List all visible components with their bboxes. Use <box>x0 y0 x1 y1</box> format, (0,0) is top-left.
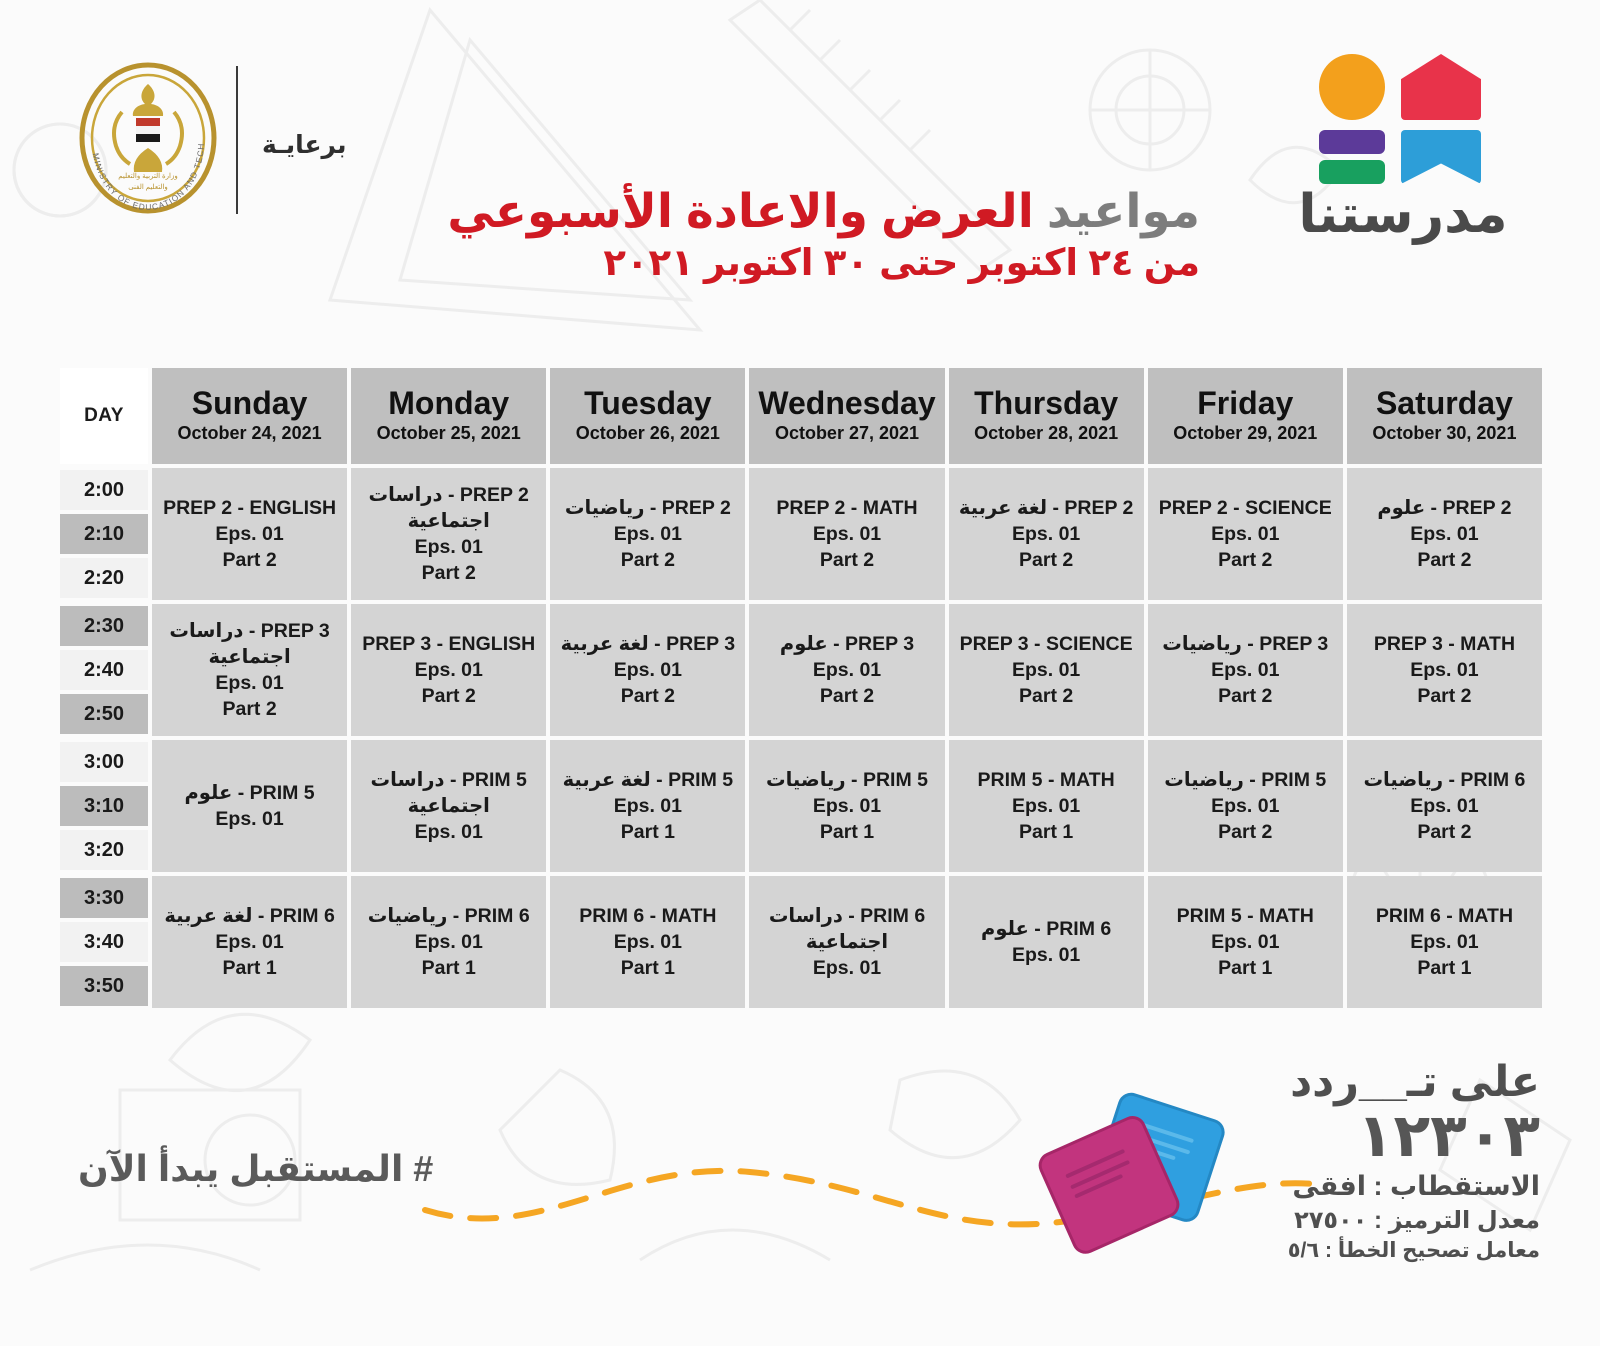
frequency-label: على تـ__ردد <box>1120 1060 1540 1105</box>
time-label: 2:30 <box>60 606 148 646</box>
day-column-header: DAY <box>60 368 148 464</box>
brand-name: مدرستنا <box>1258 184 1548 245</box>
program-title: PREP 3 - SCIENCE <box>949 631 1144 657</box>
episode-label: Eps. 01 <box>749 955 944 981</box>
part-label: Part 1 <box>550 955 745 981</box>
time-column-cell: 2:302:402:50 <box>60 604 148 736</box>
program-title: PRIM 6 - رياضيات <box>1347 767 1542 793</box>
episode-label: Eps. 01 <box>1347 929 1542 955</box>
program-title: PRIM 6 - MATH <box>1347 903 1542 929</box>
episode-label: Eps. 01 <box>949 942 1144 968</box>
sponsor-label: برعايـة <box>262 130 347 160</box>
day-name: Wednesday <box>749 387 944 421</box>
part-label: Part 1 <box>949 819 1144 845</box>
purple-bar-icon <box>1319 130 1385 154</box>
day-name: Thursday <box>949 387 1144 421</box>
program-cell[interactable]: PREP 2 - SCIENCEEps. 01Part 2 <box>1148 468 1343 600</box>
day-date: October 26, 2021 <box>550 423 745 445</box>
part-label: Part 2 <box>351 683 546 709</box>
day-name: Monday <box>351 387 546 421</box>
day-date: October 29, 2021 <box>1148 423 1343 445</box>
day-date: October 30, 2021 <box>1347 423 1542 445</box>
program-title: اجتماعية <box>351 793 546 819</box>
program-title: اجتماعية <box>152 644 347 670</box>
program-title: PREP 2 - دراسات <box>351 482 546 508</box>
episode-label: Eps. 01 <box>749 657 944 683</box>
program-cell[interactable]: PRIM 5 - علومEps. 01 <box>152 740 347 872</box>
program-title: PREP 2 - علوم <box>1347 495 1542 521</box>
day-header-friday: FridayOctober 29, 2021 <box>1148 368 1343 464</box>
episode-label: Eps. 01 <box>351 657 546 683</box>
time-label: 3:40 <box>60 922 148 962</box>
program-cell[interactable]: PRIM 6 - رياضياتEps. 01Part 2 <box>1347 740 1542 872</box>
satellite-frequency-info: على تـ__ردد ١٢٣٠٣ الاستقطاب : افقى معدل … <box>1120 1060 1540 1266</box>
program-cell[interactable]: PRIM 6 - علومEps. 01 <box>949 876 1144 1008</box>
program-title: PRIM 5 - رياضيات <box>1148 767 1343 793</box>
day-name: Sunday <box>152 387 347 421</box>
episode-label: Eps. 01 <box>949 657 1144 683</box>
schedule-row: 2:002:102:20PREP 2 - ENGLISHEps. 01Part … <box>60 468 1542 600</box>
program-cell[interactable]: PRIM 5 - دراساتاجتماعيةEps. 01 <box>351 740 546 872</box>
day-header-sunday: SundayOctober 24, 2021 <box>152 368 347 464</box>
schedule-row: 3:303:403:50PRIM 6 - لغة عربيةEps. 01Par… <box>60 876 1542 1008</box>
green-bar-icon <box>1319 160 1385 184</box>
red-house-icon <box>1401 54 1481 120</box>
day-date: October 25, 2021 <box>351 423 546 445</box>
episode-label: Eps. 01 <box>749 793 944 819</box>
orange-circle-icon <box>1319 54 1385 120</box>
program-title: PRIM 6 - علوم <box>949 916 1144 942</box>
day-date: October 27, 2021 <box>749 423 944 445</box>
program-title: PRIM 5 - دراسات <box>351 767 546 793</box>
part-label: Part 1 <box>152 955 347 981</box>
episode-label: Eps. 01 <box>550 793 745 819</box>
time-label: 3:10 <box>60 786 148 826</box>
part-label: Part 1 <box>1347 955 1542 981</box>
program-cell[interactable]: PREP 2 - دراساتاجتماعيةEps. 01Part 2 <box>351 468 546 600</box>
time-column-cell: 3:303:403:50 <box>60 876 148 1008</box>
episode-label: Eps. 01 <box>1148 657 1343 683</box>
part-label: Part 2 <box>351 560 546 586</box>
program-title: PREP 2 - لغة عربية <box>949 495 1144 521</box>
episode-label: Eps. 01 <box>949 521 1144 547</box>
time-label: 2:10 <box>60 514 148 554</box>
program-title: PREP 3 - رياضيات <box>1148 631 1343 657</box>
day-header-thursday: ThursdayOctober 28, 2021 <box>949 368 1144 464</box>
part-label: Part 2 <box>550 547 745 573</box>
episode-label: Eps. 01 <box>351 929 546 955</box>
svg-text:وزارة التربية والتعليم: وزارة التربية والتعليم <box>118 172 178 180</box>
program-cell[interactable]: PREP 3 - علومEps. 01Part 2 <box>749 604 944 736</box>
episode-label: Eps. 01 <box>152 521 347 547</box>
title-red-part: العرض والاعادة الأسبوعي <box>447 184 1033 237</box>
part-label: Part 1 <box>1148 955 1343 981</box>
time-label: 2:20 <box>60 558 148 598</box>
day-header-monday: MondayOctober 25, 2021 <box>351 368 546 464</box>
part-label: Part 2 <box>749 547 944 573</box>
program-cell[interactable]: PRIM 6 - دراساتاجتماعيةEps. 01 <box>749 876 944 1008</box>
time-label: 3:00 <box>60 742 148 782</box>
schedule-row: 3:003:103:20PRIM 5 - علومEps. 01PRIM 5 -… <box>60 740 1542 872</box>
hashtag-slogan: # المستقبل يبدأ الآن <box>78 1148 433 1190</box>
part-label: Part 2 <box>949 683 1144 709</box>
program-title: PREP 3 - لغة عربية <box>550 631 745 657</box>
schedule-row: 2:302:402:50PREP 3 - دراساتاجتماعيةEps. … <box>60 604 1542 736</box>
episode-label: Eps. 01 <box>152 670 347 696</box>
program-cell[interactable]: PRIM 6 - لغة عربيةEps. 01Part 1 <box>152 876 347 1008</box>
madrasatna-brand: مدرستنا <box>1258 52 1548 245</box>
program-title: PREP 2 - ENGLISH <box>152 495 347 521</box>
episode-label: Eps. 01 <box>1148 929 1343 955</box>
day-name: Friday <box>1148 387 1343 421</box>
episode-label: Eps. 01 <box>1148 793 1343 819</box>
episode-label: Eps. 01 <box>1148 521 1343 547</box>
time-label: 3:50 <box>60 966 148 1006</box>
episode-label: Eps. 01 <box>351 534 546 560</box>
table-body: 2:002:102:20PREP 2 - ENGLISHEps. 01Part … <box>60 468 1542 1008</box>
part-label: Part 2 <box>1148 683 1343 709</box>
part-label: Part 2 <box>1347 819 1542 845</box>
episode-label: Eps. 01 <box>152 806 347 832</box>
program-cell[interactable]: PREP 3 - دراساتاجتماعيةEps. 01Part 2 <box>152 604 347 736</box>
time-label: 2:00 <box>60 470 148 510</box>
episode-label: Eps. 01 <box>1347 521 1542 547</box>
program-cell[interactable]: PREP 3 - رياضياتEps. 01Part 2 <box>1148 604 1343 736</box>
program-cell[interactable]: PRIM 6 - MATHEps. 01Part 1 <box>1347 876 1542 1008</box>
program-cell[interactable]: PREP 2 - علومEps. 01Part 2 <box>1347 468 1542 600</box>
brand-logo-marks <box>1313 52 1493 180</box>
program-cell[interactable]: PREP 3 - SCIENCEEps. 01Part 2 <box>949 604 1144 736</box>
part-label: Part 2 <box>949 547 1144 573</box>
time-column-cell: 3:003:103:20 <box>60 740 148 872</box>
episode-label: Eps. 01 <box>1347 793 1542 819</box>
time-label: 2:40 <box>60 650 148 690</box>
program-title: PRIM 5 - رياضيات <box>749 767 944 793</box>
part-label: Part 2 <box>749 683 944 709</box>
day-header-saturday: SaturdayOctober 30, 2021 <box>1347 368 1542 464</box>
day-name: Saturday <box>1347 387 1542 421</box>
program-cell[interactable]: PREP 2 - لغة عربيةEps. 01Part 2 <box>949 468 1144 600</box>
part-label: Part 1 <box>351 955 546 981</box>
blue-bookmark-icon <box>1401 130 1481 184</box>
program-cell[interactable]: PREP 2 - رياضياتEps. 01Part 2 <box>550 468 745 600</box>
time-label: 2:50 <box>60 694 148 734</box>
polarization-info: الاستقطاب : افقى <box>1120 1168 1540 1204</box>
program-title: PREP 2 - SCIENCE <box>1148 495 1343 521</box>
table-header-row: DAY SundayOctober 24, 2021MondayOctober … <box>60 368 1542 464</box>
day-name: Tuesday <box>550 387 745 421</box>
symbol-rate-info: معدل الترميز : ٢٧٥٠٠ <box>1120 1205 1540 1237</box>
fec-info: معامل تصحيح الخطأ : ٥/٦ <box>1120 1237 1540 1265</box>
part-label: Part 2 <box>152 547 347 573</box>
program-cell[interactable]: PREP 3 - MATHEps. 01Part 2 <box>1347 604 1542 736</box>
program-cell[interactable]: PRIM 5 - رياضياتEps. 01Part 2 <box>1148 740 1343 872</box>
program-title: PRIM 6 - رياضيات <box>351 903 546 929</box>
part-label: Part 2 <box>1148 819 1343 845</box>
program-cell[interactable]: PRIM 5 - لغة عربيةEps. 01Part 1 <box>550 740 745 872</box>
part-label: Part 2 <box>1148 547 1343 573</box>
day-date: October 28, 2021 <box>949 423 1144 445</box>
part-label: Part 2 <box>152 696 347 722</box>
part-label: Part 2 <box>1347 683 1542 709</box>
day-header-wednesday: WednesdayOctober 27, 2021 <box>749 368 944 464</box>
episode-label: Eps. 01 <box>550 929 745 955</box>
episode-label: Eps. 01 <box>749 521 944 547</box>
episode-label: Eps. 01 <box>949 793 1144 819</box>
day-header-tuesday: TuesdayOctober 26, 2021 <box>550 368 745 464</box>
part-label: Part 2 <box>1347 547 1542 573</box>
time-label: 3:20 <box>60 830 148 870</box>
program-title: PRIM 5 - علوم <box>152 780 347 806</box>
day-date: October 24, 2021 <box>152 423 347 445</box>
program-title: PREP 2 - MATH <box>749 495 944 521</box>
program-cell[interactable]: PRIM 5 - MATHEps. 01Part 1 <box>949 740 1144 872</box>
program-cell[interactable]: PREP 2 - MATHEps. 01Part 2 <box>749 468 944 600</box>
program-title: اجتماعية <box>749 929 944 955</box>
ministry-seal-logo: وزارة التربية والتعليم والتعليم الفنى MI… <box>78 62 218 214</box>
program-cell[interactable]: PRIM 6 - رياضياتEps. 01Part 1 <box>351 876 546 1008</box>
page-subtitle: من ٢٤ اكتوبر حتى ٣٠ اكتوبر ٢٠٢١ <box>447 240 1200 286</box>
program-cell[interactable]: PRIM 6 - MATHEps. 01Part 1 <box>550 876 745 1008</box>
program-title: PREP 3 - ENGLISH <box>351 631 546 657</box>
time-label: 3:30 <box>60 878 148 918</box>
episode-label: Eps. 01 <box>550 657 745 683</box>
episode-label: Eps. 01 <box>1347 657 1542 683</box>
header-divider <box>236 66 238 214</box>
episode-label: Eps. 01 <box>152 929 347 955</box>
program-cell[interactable]: PRIM 5 - رياضياتEps. 01Part 1 <box>749 740 944 872</box>
time-column-cell: 2:002:102:20 <box>60 468 148 600</box>
program-cell[interactable]: PREP 3 - لغة عربيةEps. 01Part 2 <box>550 604 745 736</box>
program-title: PREP 3 - علوم <box>749 631 944 657</box>
program-title: PREP 3 - دراسات <box>152 618 347 644</box>
program-cell[interactable]: PREP 3 - ENGLISHEps. 01Part 2 <box>351 604 546 736</box>
page-header: وزارة التربية والتعليم والتعليم الفنى MI… <box>0 0 1600 350</box>
program-title: PRIM 6 - دراسات <box>749 903 944 929</box>
episode-label: Eps. 01 <box>550 521 745 547</box>
part-label: Part 2 <box>550 683 745 709</box>
program-title: PRIM 6 - لغة عربية <box>152 903 347 929</box>
program-title: PREP 2 - رياضيات <box>550 495 745 521</box>
title-grey-part: مواعيد <box>1047 184 1200 237</box>
program-title: PRIM 5 - MATH <box>1148 903 1343 929</box>
page-title: مواعيد العرض والاعادة الأسبوعي من ٢٤ اكت… <box>447 185 1200 286</box>
program-cell[interactable]: PRIM 5 - MATHEps. 01Part 1 <box>1148 876 1343 1008</box>
program-title: PREP 3 - MATH <box>1347 631 1542 657</box>
program-title: PRIM 5 - MATH <box>949 767 1144 793</box>
frequency-value: ١٢٣٠٣ <box>1120 1105 1540 1166</box>
program-title: اجتماعية <box>351 508 546 534</box>
weekly-schedule-table: DAY SundayOctober 24, 2021MondayOctober … <box>56 364 1546 1012</box>
svg-text:والتعليم الفنى: والتعليم الفنى <box>128 183 168 191</box>
program-title: PRIM 6 - MATH <box>550 903 745 929</box>
program-cell[interactable]: PREP 2 - ENGLISHEps. 01Part 2 <box>152 468 347 600</box>
program-title: PRIM 5 - لغة عربية <box>550 767 745 793</box>
part-label: Part 1 <box>749 819 944 845</box>
episode-label: Eps. 01 <box>351 819 546 845</box>
part-label: Part 1 <box>550 819 745 845</box>
